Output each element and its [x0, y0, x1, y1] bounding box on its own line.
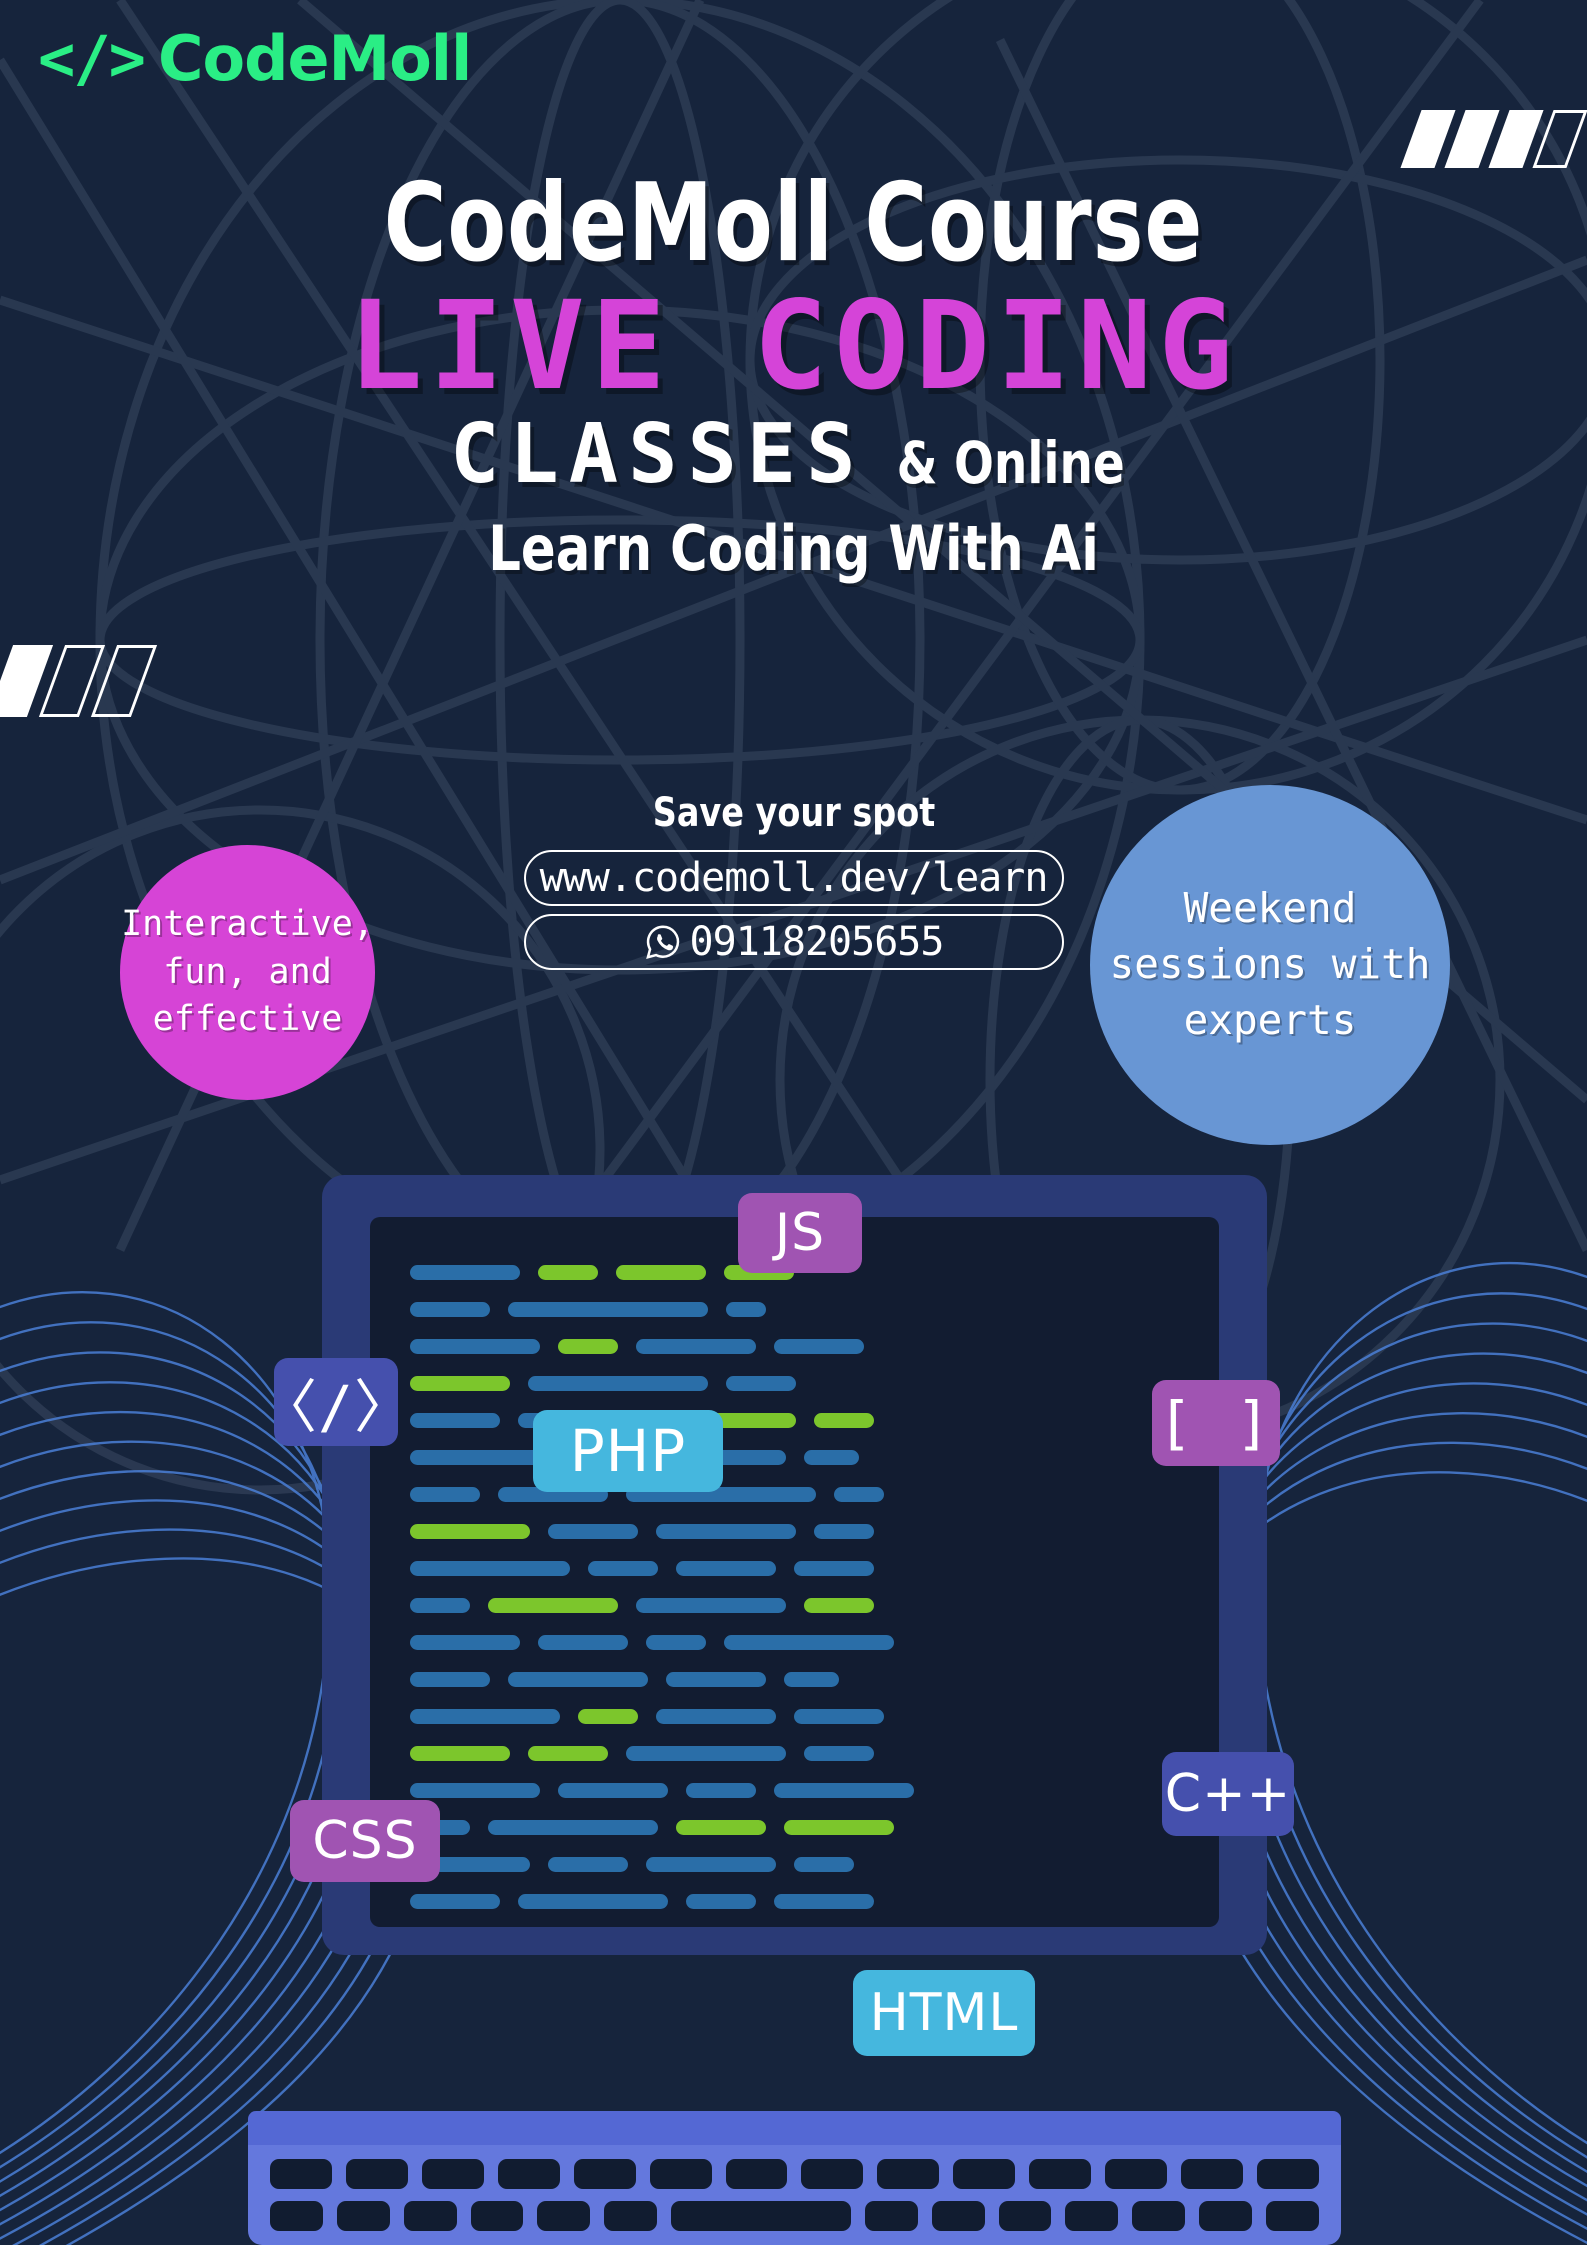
keyboard-key: [865, 2201, 918, 2231]
headline-classes-row: CLASSES & Online: [0, 414, 1587, 496]
slash-decoration-top-right: [1400, 110, 1587, 168]
code-token: [724, 1635, 894, 1650]
code-token: [588, 1561, 658, 1576]
keyboard-key: [270, 2159, 332, 2189]
code-line: [410, 1450, 1179, 1465]
keyboard-key: [953, 2159, 1015, 2189]
code-token: [488, 1820, 658, 1835]
circle-text-weekend: Weekend sessions with experts: [1090, 881, 1450, 1048]
code-token: [410, 1524, 530, 1539]
code-token: [636, 1598, 786, 1613]
code-token: [538, 1635, 628, 1650]
code-token: [656, 1524, 796, 1539]
code-token: [774, 1783, 914, 1798]
code-token: [834, 1487, 884, 1502]
keyboard-key: [337, 2201, 390, 2231]
code-token: [410, 1894, 500, 1909]
tech-badge-js[interactable]: JS: [738, 1193, 862, 1273]
code-token: [410, 1561, 570, 1576]
code-token: [774, 1894, 874, 1909]
keyboard-key: [604, 2201, 657, 2231]
code-token: [518, 1894, 668, 1909]
keyboard-key: [671, 2201, 851, 2231]
contact-block: Save your spot www.codemoll.dev/learn 09…: [524, 790, 1064, 970]
headline-online: & Online: [896, 434, 1124, 492]
keyboard-row: [270, 2159, 1319, 2189]
code-token: [410, 1709, 560, 1724]
code-token: [410, 1413, 500, 1428]
code-token: [578, 1709, 638, 1724]
code-token: [686, 1894, 756, 1909]
headline-course: CodeMoll Course: [95, 170, 1492, 278]
code-line: [410, 1709, 1179, 1724]
code-token: [410, 1450, 550, 1465]
code-token: [804, 1598, 874, 1613]
keyboard-key: [574, 2159, 636, 2189]
code-token: [646, 1635, 706, 1650]
keyboard-key: [1065, 2201, 1118, 2231]
code-token: [410, 1302, 490, 1317]
code-token: [548, 1857, 628, 1872]
tech-badge-css[interactable]: CSS: [290, 1800, 440, 1882]
code-token: [794, 1561, 874, 1576]
code-token: [626, 1746, 786, 1761]
code-token: [410, 1339, 540, 1354]
tech-badge-brackets[interactable]: [ ]: [1152, 1380, 1280, 1466]
laptop-screen: [370, 1217, 1219, 1927]
keyboard-key: [999, 2201, 1052, 2231]
code-line: [410, 1339, 1179, 1354]
keyboard-key: [726, 2159, 788, 2189]
headline-classes: CLASSES: [450, 414, 866, 496]
headline-tagline: Learn Coding With Ai: [63, 518, 1523, 580]
code-token: [636, 1339, 756, 1354]
code-token: [558, 1339, 618, 1354]
code-line: [410, 1561, 1179, 1576]
keyboard-key: [1257, 2159, 1319, 2189]
code-token: [804, 1746, 874, 1761]
code-token: [410, 1376, 510, 1391]
code-token: [784, 1820, 894, 1835]
keyboard-key: [1132, 2201, 1185, 2231]
code-line: [410, 1857, 1179, 1872]
code-token: [814, 1524, 874, 1539]
code-token: [558, 1783, 668, 1798]
brand-name: CodeMoll: [158, 28, 471, 90]
code-line: [410, 1820, 1179, 1835]
keyboard-key: [537, 2201, 590, 2231]
save-spot-label: Save your spot: [542, 790, 1044, 836]
headline-live-coding: LIVE CODING: [0, 284, 1587, 408]
code-token: [548, 1524, 638, 1539]
code-token: [726, 1302, 766, 1317]
code-token: [784, 1672, 839, 1687]
keyboard-row: [270, 2201, 1319, 2231]
keyboard-key: [1199, 2201, 1252, 2231]
keyboard-key: [1029, 2159, 1091, 2189]
code-line: [410, 1635, 1179, 1650]
code-token: [794, 1857, 854, 1872]
code-line: [410, 1894, 1179, 1909]
code-token: [676, 1561, 776, 1576]
code-line: [410, 1413, 1179, 1428]
code-line: [410, 1376, 1179, 1391]
code-token: [410, 1598, 470, 1613]
laptop-keyboard: [248, 2145, 1341, 2245]
code-token: [616, 1265, 706, 1280]
keyboard-key: [1105, 2159, 1167, 2189]
code-token: [676, 1820, 766, 1835]
keyboard-key: [270, 2201, 323, 2231]
code-token: [410, 1783, 540, 1798]
slash-decoration-left: [0, 645, 157, 717]
code-token: [726, 1376, 796, 1391]
phone-pill[interactable]: 09118205655: [524, 914, 1064, 970]
keyboard-key: [498, 2159, 560, 2189]
code-token: [646, 1857, 776, 1872]
code-token: [666, 1672, 766, 1687]
code-token: [656, 1709, 776, 1724]
keyboard-key: [1266, 2201, 1319, 2231]
code-token: [794, 1709, 884, 1724]
code-line: [410, 1598, 1179, 1613]
keyboard-key: [650, 2159, 712, 2189]
code-line: [410, 1746, 1179, 1761]
code-line: [410, 1487, 1179, 1502]
keyboard-key: [422, 2159, 484, 2189]
tech-badge-cpp[interactable]: C++: [1162, 1752, 1294, 1836]
tech-badge-php[interactable]: PHP: [533, 1410, 723, 1492]
code-token: [410, 1635, 520, 1650]
tech-badge-html[interactable]: HTML: [853, 1970, 1035, 2056]
laptop-illustration: [0, 1175, 1587, 2245]
badge-circle-interactive: Interactive, fun, and effective: [120, 845, 375, 1100]
code-token: [528, 1376, 708, 1391]
keyboard-key: [471, 2201, 524, 2231]
keyboard-key: [801, 2159, 863, 2189]
code-token: [804, 1450, 859, 1465]
code-token: [686, 1783, 756, 1798]
code-token: [410, 1672, 490, 1687]
laptop-lid: [322, 1175, 1267, 1955]
code-token: [410, 1746, 510, 1761]
tech-badge-code-icon[interactable]: 〈/〉: [274, 1358, 398, 1446]
phone-number: 09118205655: [690, 919, 944, 965]
headline-block: CodeMoll Course LIVE CODING CLASSES & On…: [0, 170, 1587, 580]
keyboard-key: [346, 2159, 408, 2189]
code-token: [410, 1265, 520, 1280]
code-line: [410, 1302, 1179, 1317]
badge-circle-weekend: Weekend sessions with experts: [1090, 785, 1450, 1145]
keyboard-key: [932, 2201, 985, 2231]
code-token: [508, 1302, 708, 1317]
website-pill[interactable]: www.codemoll.dev/learn: [524, 850, 1064, 906]
code-line: [410, 1783, 1179, 1798]
keyboard-key: [404, 2201, 457, 2231]
code-token: [814, 1413, 874, 1428]
website-url: www.codemoll.dev/learn: [540, 855, 1048, 901]
whatsapp-icon: [644, 923, 682, 961]
keyboard-key: [877, 2159, 939, 2189]
keyboard-key: [1181, 2159, 1243, 2189]
brand-logo: </> CodeMoll: [38, 28, 471, 90]
code-token: [538, 1265, 598, 1280]
code-token: [774, 1339, 864, 1354]
code-line: [410, 1672, 1179, 1687]
code-token: [488, 1598, 618, 1613]
code-tag-icon: </>: [38, 28, 144, 90]
code-token: [528, 1746, 608, 1761]
poster-root: </> CodeMoll CodeMoll Course LIVE CODING…: [0, 0, 1587, 2245]
code-token: [508, 1672, 648, 1687]
code-token: [410, 1487, 480, 1502]
circle-text-interactive: Interactive, fun, and effective: [120, 901, 375, 1044]
code-line: [410, 1524, 1179, 1539]
